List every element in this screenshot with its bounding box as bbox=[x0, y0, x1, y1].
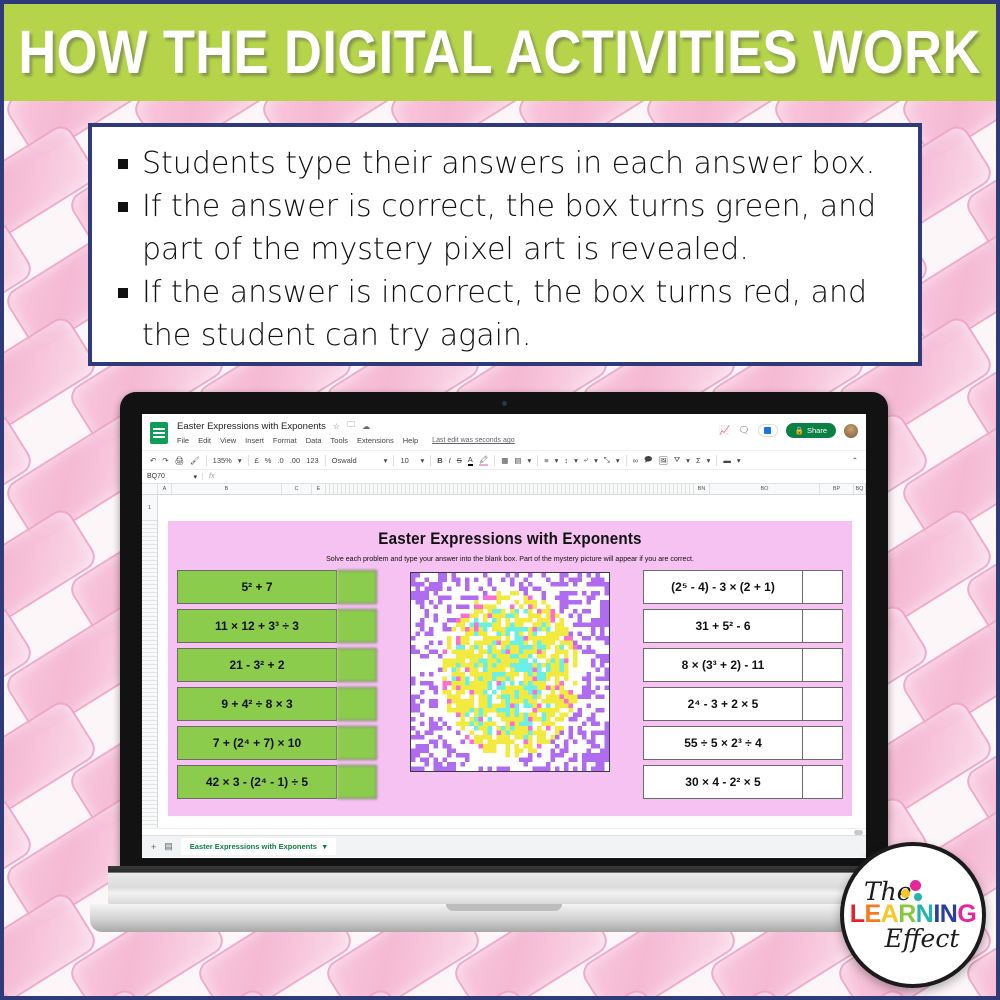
instruction-text: If the answer is incorrect, the box turn… bbox=[142, 272, 892, 358]
instruction-text: If the answer is correct, the box turns … bbox=[142, 186, 892, 272]
answer-input-box[interactable] bbox=[803, 687, 843, 721]
chevron-down-icon[interactable]: ▾ bbox=[574, 456, 578, 465]
undo-icon[interactable]: ↶ bbox=[150, 456, 156, 465]
star-icon[interactable]: ☆ bbox=[333, 422, 340, 431]
divider bbox=[393, 455, 394, 466]
answer-input-box[interactable] bbox=[803, 726, 843, 760]
answer-input-box[interactable] bbox=[337, 570, 377, 604]
problem-expression: 30 × 4 - 2² × 5 bbox=[643, 765, 803, 799]
problem-expression: 9 + 4² ÷ 8 × 3 bbox=[177, 687, 337, 721]
problem-expression: 7 + (2⁴ + 7) × 10 bbox=[177, 726, 337, 760]
problem-row: 7 + (2⁴ + 7) × 10 bbox=[177, 726, 377, 760]
collapse-toolbar-icon[interactable]: ⌃ bbox=[852, 456, 858, 465]
menu-tools[interactable]: Tools bbox=[331, 436, 349, 445]
chevron-down-icon[interactable]: ▾ bbox=[737, 456, 741, 465]
menu-view[interactable]: View bbox=[220, 436, 236, 445]
answer-input-box[interactable] bbox=[337, 765, 377, 799]
square-bullet-icon bbox=[118, 288, 128, 298]
answer-input-box[interactable] bbox=[337, 687, 377, 721]
all-sheets-icon[interactable]: ▤ bbox=[164, 841, 173, 852]
chevron-down-icon[interactable]: ▾ bbox=[686, 456, 690, 465]
avatar[interactable] bbox=[844, 424, 858, 438]
answer-input-box[interactable] bbox=[337, 726, 377, 760]
number-format-button[interactable]: 123 bbox=[306, 456, 319, 465]
problem-row: 21 - 3² + 2 bbox=[177, 648, 377, 682]
redo-icon[interactable]: ↷ bbox=[162, 456, 168, 465]
list-item: If the answer is incorrect, the box turn… bbox=[118, 272, 892, 358]
share-button[interactable]: 🔒 Share bbox=[786, 423, 836, 438]
menu-edit[interactable]: Edit bbox=[198, 436, 211, 445]
chevron-down-icon[interactable]: ▾ bbox=[238, 456, 242, 465]
logo-letter: E bbox=[864, 900, 880, 928]
column-header-a[interactable]: A bbox=[158, 484, 172, 494]
problem-row: 31 + 5² - 6 bbox=[643, 609, 843, 643]
logo-letter: G bbox=[957, 900, 976, 928]
problem-expression: (2⁵ - 4) - 3 × (2 + 1) bbox=[643, 570, 803, 604]
cloud-saved-icon[interactable]: ☁ bbox=[362, 422, 370, 431]
vertical-align-icon[interactable]: ↕ bbox=[564, 456, 568, 465]
chevron-down-icon[interactable]: ▾ bbox=[616, 456, 620, 465]
chevron-down-icon[interactable]: ▾ bbox=[193, 473, 197, 481]
chevron-down-icon[interactable]: ▾ bbox=[594, 456, 598, 465]
menu-format[interactable]: Format bbox=[273, 436, 297, 445]
column-header-bo[interactable]: BO bbox=[710, 484, 820, 494]
font-size-select[interactable]: 10 bbox=[400, 456, 414, 465]
right-problem-column: (2⁵ - 4) - 3 × (2 + 1)31 + 5² - 68 × (3³… bbox=[643, 570, 843, 799]
sheets-toolbar: ↶ ↷ 🖨 🖌 135% ▾ £ % .0 .00 123 Oswald ▾ 1… bbox=[142, 450, 866, 469]
problem-expression: 31 + 5² - 6 bbox=[643, 609, 803, 643]
column-header-e[interactable]: E bbox=[312, 484, 326, 494]
sheet-tab-label: Easter Expressions with Exponents bbox=[190, 842, 317, 851]
print-icon[interactable]: 🖨 bbox=[175, 456, 185, 465]
problem-row: 9 + 4² ÷ 8 × 3 bbox=[177, 687, 377, 721]
zoom-level[interactable]: 135% bbox=[213, 456, 232, 465]
problem-expression: 21 - 3² + 2 bbox=[177, 648, 337, 682]
merge-cells-icon[interactable]: ▤ bbox=[514, 456, 521, 465]
webcam-icon bbox=[502, 401, 507, 406]
laptop-lid: Easter Expressions with Exponents ☆ 🗀 ☁ … bbox=[120, 392, 888, 870]
laptop-front-notch bbox=[446, 904, 562, 911]
problem-row: 55 ÷ 5 × 2³ ÷ 4 bbox=[643, 726, 843, 760]
logo-effect-text: Effect bbox=[885, 924, 960, 953]
column-headers: A B C E BN BO BP BQ bbox=[142, 484, 866, 495]
insert-image-icon[interactable]: 🖼 bbox=[658, 456, 668, 465]
divider bbox=[626, 455, 627, 466]
move-to-folder-icon[interactable]: 🗀 bbox=[347, 419, 355, 433]
divider bbox=[430, 455, 431, 466]
percent-format-button[interactable]: % bbox=[265, 456, 272, 465]
activity-slide: Easter Expressions with Exponents Solve … bbox=[168, 521, 852, 816]
activity-subtitle: Solve each problem and type your answer … bbox=[192, 554, 828, 563]
problem-row: 8 × (3³ + 2) - 11 bbox=[643, 648, 843, 682]
trends-icon[interactable]: 📈 bbox=[719, 425, 730, 436]
list-item: If the answer is correct, the box turns … bbox=[118, 186, 892, 272]
decrease-decimal-button[interactable]: .0 bbox=[277, 456, 283, 465]
chevron-down-icon[interactable]: ▾ bbox=[420, 456, 424, 465]
text-wrap-icon[interactable]: ⤶ bbox=[584, 455, 588, 465]
collapsed-columns[interactable] bbox=[326, 484, 694, 494]
menu-insert[interactable]: Insert bbox=[245, 436, 264, 445]
problem-row: 2⁴ - 3 + 2 × 5 bbox=[643, 687, 843, 721]
lock-icon: 🔒 bbox=[795, 426, 804, 435]
instructions-card: Students type their answers in each answ… bbox=[88, 123, 922, 366]
grid-body: 1 Easter Expressions with Exponents Solv… bbox=[142, 495, 866, 828]
problem-expression: 42 × 3 - (2⁴ - 1) ÷ 5 bbox=[177, 765, 337, 799]
text-rotation-icon[interactable]: ⤡ bbox=[604, 455, 610, 465]
answer-input-box[interactable] bbox=[803, 609, 843, 643]
menu-data[interactable]: Data bbox=[306, 436, 322, 445]
chevron-down-icon[interactable]: ▾ bbox=[323, 842, 327, 851]
bold-button[interactable]: B bbox=[437, 456, 442, 465]
formula-bar: BQ70 ▾ fx bbox=[142, 469, 866, 484]
divider bbox=[248, 455, 249, 466]
answer-input-box[interactable] bbox=[803, 570, 843, 604]
divider bbox=[494, 455, 495, 466]
chevron-down-icon[interactable]: ▾ bbox=[527, 456, 531, 465]
divider bbox=[716, 455, 717, 466]
sheets-logo-icon bbox=[150, 422, 168, 444]
row-header-1[interactable]: 1 bbox=[142, 495, 157, 521]
left-problem-column: 5² + 711 × 12 + 3³ ÷ 321 - 3² + 29 + 4² … bbox=[177, 570, 377, 799]
menu-help[interactable]: Help bbox=[403, 436, 418, 445]
list-item: Students type their answers in each answ… bbox=[118, 143, 892, 186]
row-headers: 1 bbox=[142, 495, 158, 828]
chevron-down-icon[interactable]: ▾ bbox=[555, 456, 559, 465]
column-header-bn[interactable]: BN bbox=[694, 484, 710, 494]
strikethrough-button[interactable]: S bbox=[457, 456, 462, 465]
currency-format-button[interactable]: £ bbox=[255, 456, 259, 465]
brand-logo: The LEARNING Effect bbox=[840, 842, 986, 988]
answer-input-box[interactable] bbox=[337, 648, 377, 682]
problem-row: (2⁵ - 4) - 3 × (2 + 1) bbox=[643, 570, 843, 604]
horizontal-scrollbar[interactable] bbox=[142, 828, 866, 835]
increase-decimal-button[interactable]: .00 bbox=[290, 456, 300, 465]
column-header-bq[interactable]: BQ bbox=[854, 484, 866, 494]
share-label: Share bbox=[807, 426, 827, 435]
name-box[interactable]: BQ70 ▾ bbox=[147, 473, 197, 481]
fx-icon: fx bbox=[202, 473, 214, 480]
divider bbox=[537, 455, 538, 466]
comment-icon[interactable]: 🗨 bbox=[738, 425, 749, 436]
activity-columns: 5² + 711 × 12 + 3³ ÷ 321 - 3² + 29 + 4² … bbox=[168, 563, 852, 799]
last-edit-status[interactable]: Last edit was seconds ago bbox=[432, 437, 515, 444]
column-header-b[interactable]: B bbox=[172, 484, 282, 494]
divider bbox=[206, 455, 207, 466]
italic-button[interactable]: I bbox=[449, 456, 451, 465]
sheet-tabs-bar: + ▤ Easter Expressions with Exponents ▾ bbox=[142, 835, 866, 857]
filter-icon[interactable]: ⛛ bbox=[674, 455, 680, 465]
problem-row: 11 × 12 + 3³ ÷ 3 bbox=[177, 609, 377, 643]
chevron-down-icon[interactable]: ▾ bbox=[384, 456, 388, 465]
paint-format-icon[interactable]: 🖌 bbox=[190, 456, 200, 465]
text-color-button[interactable]: A bbox=[468, 455, 473, 466]
column-header-c[interactable]: C bbox=[282, 484, 312, 494]
mystery-easter-egg-pixel-art bbox=[410, 572, 610, 772]
instruction-text: Students type their answers in each answ… bbox=[142, 143, 875, 186]
meet-camera-icon[interactable] bbox=[758, 424, 778, 437]
grid-canvas[interactable]: Easter Expressions with Exponents Solve … bbox=[158, 495, 866, 828]
column-header-bp[interactable]: BP bbox=[820, 484, 854, 494]
instructions-list: Students type their answers in each answ… bbox=[118, 143, 892, 357]
problem-expression: 8 × (3³ + 2) - 11 bbox=[643, 648, 803, 682]
horizontal-align-icon[interactable]: ≡ bbox=[544, 456, 548, 465]
collapsed-rows[interactable] bbox=[142, 521, 157, 828]
insert-link-icon[interactable]: ∞ bbox=[633, 456, 638, 465]
problem-row: 42 × 3 - (2⁴ - 1) ÷ 5 bbox=[177, 765, 377, 799]
answer-input-box[interactable] bbox=[803, 648, 843, 682]
page-title: HOW THE DIGITAL ACTIVITIES WORK bbox=[19, 22, 981, 83]
menu-file[interactable]: File bbox=[177, 436, 189, 445]
input-tools-icon[interactable]: ▬ bbox=[723, 456, 731, 465]
chevron-down-icon[interactable]: ▾ bbox=[707, 456, 711, 465]
font-family-select[interactable]: Oswald bbox=[332, 456, 378, 465]
laptop-screen: Easter Expressions with Exponents ☆ 🗀 ☁ … bbox=[142, 414, 866, 858]
insert-comment-icon[interactable]: 🗩 bbox=[644, 454, 652, 467]
document-title[interactable]: Easter Expressions with Exponents bbox=[177, 421, 326, 432]
logo-letter: L bbox=[850, 900, 865, 928]
add-sheet-button[interactable]: + bbox=[151, 842, 156, 852]
menu-extensions[interactable]: Extensions bbox=[357, 436, 394, 445]
page-header-banner: HOW THE DIGITAL ACTIVITIES WORK bbox=[4, 4, 996, 101]
problem-expression: 2⁴ - 3 + 2 × 5 bbox=[643, 687, 803, 721]
fill-color-icon[interactable]: 🖍 bbox=[479, 455, 489, 466]
select-all-corner[interactable] bbox=[142, 484, 158, 494]
square-bullet-icon bbox=[118, 202, 128, 212]
functions-icon[interactable]: Σ bbox=[696, 456, 701, 465]
laptop-mockup: Easter Expressions with Exponents ☆ 🗀 ☁ … bbox=[108, 392, 900, 964]
problem-expression: 5² + 7 bbox=[177, 570, 337, 604]
borders-icon[interactable]: ▦ bbox=[501, 456, 508, 465]
answer-input-box[interactable] bbox=[337, 609, 377, 643]
name-box-value: BQ70 bbox=[147, 473, 165, 480]
problem-expression: 11 × 12 + 3³ ÷ 3 bbox=[177, 609, 337, 643]
sheet-tab-easter-expressions[interactable]: Easter Expressions with Exponents ▾ bbox=[181, 838, 336, 855]
sheets-topbar: Easter Expressions with Exponents ☆ 🗀 ☁ … bbox=[142, 414, 866, 450]
problem-row: 30 × 4 - 2² × 5 bbox=[643, 765, 843, 799]
square-bullet-icon bbox=[118, 159, 128, 169]
problem-row: 5² + 7 bbox=[177, 570, 377, 604]
problem-expression: 55 ÷ 5 × 2³ ÷ 4 bbox=[643, 726, 803, 760]
divider bbox=[325, 455, 326, 466]
activity-title: Easter Expressions with Exponents bbox=[195, 521, 824, 549]
answer-input-box[interactable] bbox=[803, 765, 843, 799]
